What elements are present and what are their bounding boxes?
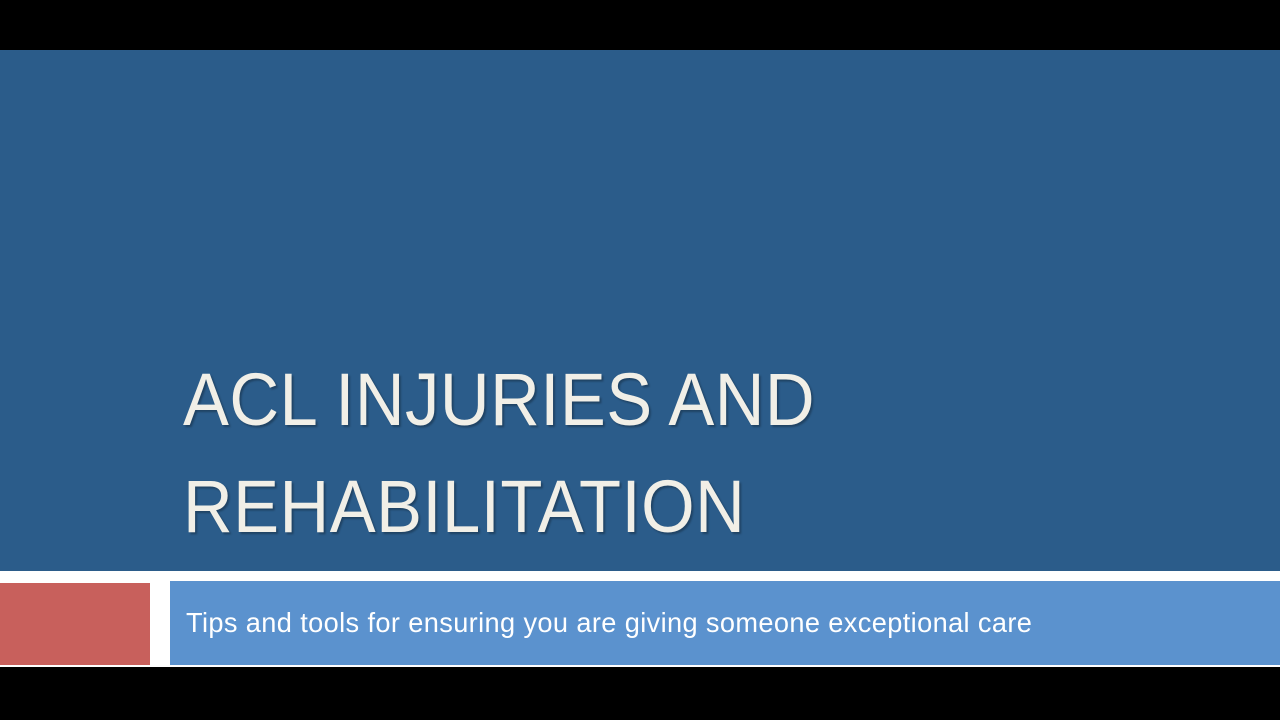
title-panel: ACL Injuries and Rehabilitation: [0, 50, 1280, 571]
letterbox-bar-bottom: [0, 667, 1280, 720]
presentation-slide: ACL Injuries and Rehabilitation Tips and…: [0, 50, 1280, 667]
subtitle-bar: Tips and tools for ensuring you are givi…: [170, 581, 1280, 665]
slide-viewport: ACL Injuries and Rehabilitation Tips and…: [0, 0, 1280, 720]
letterbox-bar-top: [0, 0, 1280, 50]
slide-subtitle: Tips and tools for ensuring you are givi…: [186, 607, 1032, 639]
accent-block-red: [0, 583, 150, 665]
page-title: ACL Injuries and Rehabilitation: [183, 346, 1020, 561]
